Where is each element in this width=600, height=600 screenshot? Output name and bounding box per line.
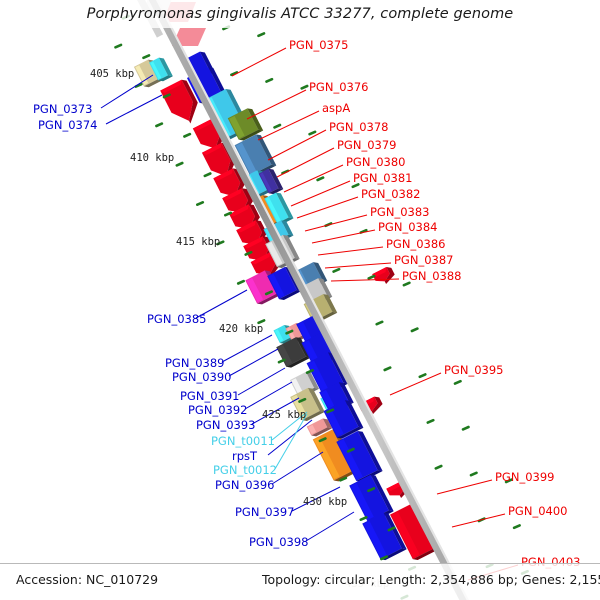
axis-tick-mark [389, 528, 395, 530]
gene-label[interactable]: PGN_0387 [394, 253, 453, 267]
gene-label[interactable]: PGN_0374 [38, 118, 97, 132]
axis-tick-label: 425 kbp [262, 409, 306, 421]
axis-tick-mark [184, 134, 190, 136]
gene-label[interactable]: PGN_0392 [188, 403, 247, 417]
axis-tick-mark [471, 473, 477, 475]
gene-label[interactable]: PGN_0378 [329, 120, 388, 134]
axis-tick-mark [164, 95, 170, 97]
axis-tick-mark [420, 374, 426, 376]
axis-tick-mark [144, 55, 150, 57]
axis-tick-mark [302, 86, 308, 88]
gene-label[interactable]: PGN_0373 [33, 102, 92, 116]
axis-tick-mark [361, 517, 367, 519]
axis-tick-mark [479, 519, 485, 521]
gene-label[interactable]: PGN_0400 [508, 504, 567, 518]
axis-tick-mark [361, 230, 367, 232]
gene-label[interactable]: PGN_0385 [147, 312, 206, 326]
gene-label[interactable]: PGN_t0011 [211, 434, 275, 448]
axis-tick-mark [197, 202, 203, 204]
axis-tick-mark [334, 269, 340, 271]
gene-label[interactable]: PGN_0381 [353, 171, 412, 185]
axis-tick-mark [136, 84, 142, 86]
axis-tick-mark [300, 399, 306, 401]
axis-tick-mark [177, 163, 183, 165]
axis-tick-label: 430 kbp [303, 496, 347, 508]
gene-label[interactable]: PGN_0390 [172, 370, 231, 384]
page-title: Porphyromonas gingivalis ATCC 33277, com… [0, 6, 600, 22]
gene-label[interactable]: PGN_0375 [289, 38, 348, 52]
gene-label[interactable]: PGN_0393 [196, 418, 255, 432]
axis-tick-mark [283, 171, 289, 173]
axis-tick-mark [225, 213, 231, 215]
gene-label[interactable]: PGN_0389 [165, 356, 224, 370]
axis-tick-mark [310, 132, 316, 134]
axis-tick-mark [436, 466, 442, 468]
gene-label[interactable]: PGN_0386 [386, 237, 445, 251]
axis-tick-mark [287, 331, 293, 333]
axis-tick-mark [368, 488, 374, 490]
axis-tick-mark [328, 410, 334, 412]
axis-tick-mark [318, 178, 324, 180]
axis-tick-mark [385, 368, 391, 370]
axis-tick-mark [369, 276, 375, 278]
axis-tick-mark [205, 174, 211, 176]
axis-tick-mark [238, 281, 244, 283]
axis-tick-mark [381, 557, 387, 559]
accession-text: Accession: NC_010729 [16, 572, 158, 587]
gene-label[interactable]: PGN_0399 [495, 470, 554, 484]
gene-label[interactable]: PGN_0388 [402, 269, 461, 283]
axis-tick-mark [326, 223, 332, 225]
axis-tick-mark [320, 439, 326, 441]
gene-label[interactable]: PGN_0395 [444, 363, 503, 377]
gene-label[interactable]: aspA [322, 101, 350, 115]
axis-tick-mark [246, 252, 252, 254]
axis-tick-mark [463, 427, 469, 429]
gene-label[interactable]: PGN_0384 [378, 220, 437, 234]
axis-tick-mark [348, 449, 354, 451]
gene-label[interactable]: PGN_0380 [346, 155, 405, 169]
axis-tick-mark [412, 329, 418, 331]
gene-label[interactable]: PGN_0376 [309, 80, 368, 94]
axis-tick-mark [267, 79, 273, 81]
axis-tick-label: 415 kbp [176, 236, 220, 248]
axis-tick-mark [266, 292, 272, 294]
axis-tick-mark [231, 72, 237, 74]
axis-tick-label: 405 kbp [90, 68, 134, 80]
axis-tick-mark [116, 45, 122, 47]
axis-tick-mark [377, 322, 383, 324]
gene-label[interactable]: PGN_0383 [370, 205, 429, 219]
axis-tick-mark [275, 125, 281, 127]
gene-label[interactable]: PGN_0398 [249, 535, 308, 549]
axis-tick-mark [156, 124, 162, 126]
gene-label[interactable]: PGN_0379 [337, 138, 396, 152]
axis-tick-mark [279, 360, 285, 362]
axis-tick-mark [259, 33, 265, 35]
gene-label[interactable]: PGN_0397 [235, 505, 294, 519]
gene-label[interactable]: rpsT [232, 449, 257, 463]
axis-tick-mark [428, 420, 434, 422]
genome-viewer-canvas[interactable]: 405 kbp410 kbp415 kbp420 kbp425 kbp430 k… [0, 0, 600, 600]
topology-text: Topology: circular; Length: 2,354,886 bp… [262, 572, 600, 587]
gene-label[interactable]: PGN_t0012 [213, 463, 277, 477]
status-bar: Accession: NC_010729 Topology: circular;… [0, 563, 600, 600]
axis-tick-mark [404, 283, 410, 285]
axis-tick-mark [514, 525, 520, 527]
status-divider [0, 563, 600, 564]
axis-tick-label: 410 kbp [130, 152, 174, 164]
axis-tick-mark [340, 478, 346, 480]
axis-tick-label: 420 kbp [219, 323, 263, 335]
axis-tick-mark [455, 381, 461, 383]
axis-tick-mark [307, 370, 313, 372]
gene-label[interactable]: PGN_0391 [180, 389, 239, 403]
gene-label[interactable]: PGN_0396 [215, 478, 274, 492]
gene-label[interactable]: PGN_0382 [361, 187, 420, 201]
